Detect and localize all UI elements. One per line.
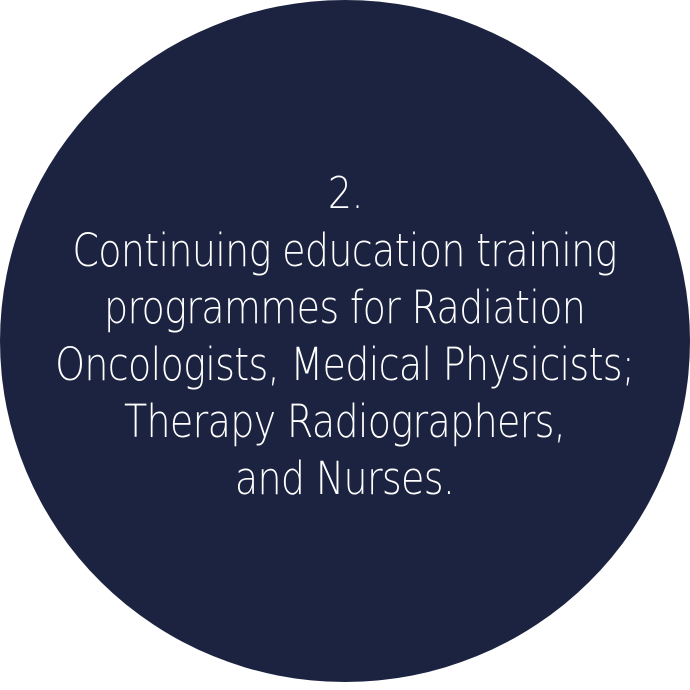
badge-body-line-1: Continuing education training: [56, 222, 635, 279]
badge-body-line-3: Oncologists, Medical Physicists;: [56, 336, 635, 393]
badge-body-line-4: Therapy Radiographers,: [56, 393, 635, 450]
infographic-canvas: 2. Continuing education training program…: [0, 0, 690, 690]
badge-body-line-5: and Nurses.: [56, 450, 635, 507]
badge-number: 2.: [327, 165, 362, 222]
badge-body-line-2: programmes for Radiation: [56, 279, 635, 336]
badge-body-text: Continuing education training programmes…: [2, 222, 687, 507]
badge-text-block: 2. Continuing education training program…: [0, 0, 690, 682]
